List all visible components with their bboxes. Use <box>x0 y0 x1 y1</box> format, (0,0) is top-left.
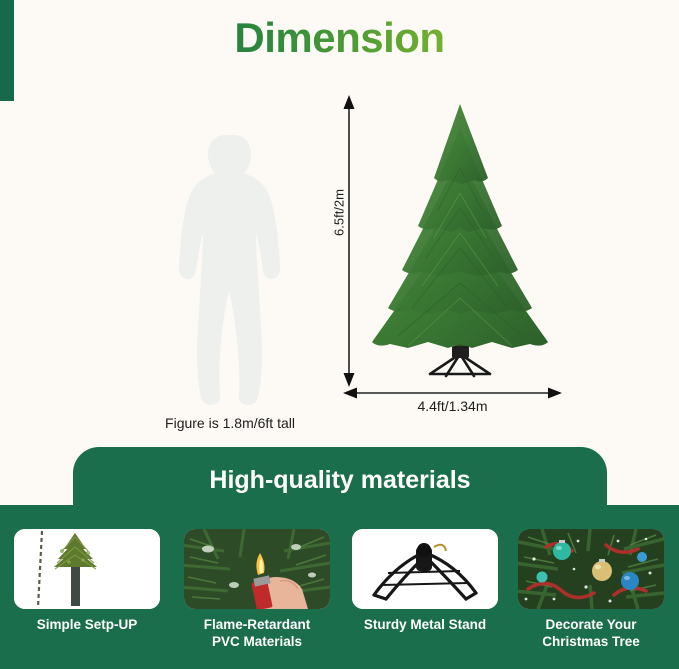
width-dimension-label: 4.4ft/1.34m <box>345 398 560 414</box>
feature-label: Simple Setp-UP <box>14 617 160 634</box>
feature-label-line2: Christmas Tree <box>542 634 640 649</box>
christmas-tree-image <box>352 98 568 380</box>
height-dimension-label: 6.5ft/2m <box>332 173 347 253</box>
feature-label-line2: PVC Materials <box>212 634 302 649</box>
feature-label: Sturdy Metal Stand <box>352 617 498 634</box>
decorated-tree-ornaments-icon <box>518 529 664 609</box>
feature-item-flame-retardant[interactable]: Flame-Retardant PVC Materials <box>184 529 334 669</box>
feature-label: Flame-Retardant PVC Materials <box>184 617 330 651</box>
metal-tree-stand-icon <box>352 529 498 609</box>
feature-label-line1: Decorate Your <box>545 617 636 632</box>
dimension-section: Dimension Figure is 1.8m/6ft tall <box>0 0 679 505</box>
feature-label-line1: Flame-Retardant <box>204 617 311 632</box>
feature-label: Decorate Your Christmas Tree <box>518 617 664 651</box>
tree-pole-section-icon <box>14 529 160 609</box>
human-silhouette-icon <box>163 133 293 405</box>
page-title: Dimension <box>0 14 679 62</box>
figure-caption: Figure is 1.8m/6ft tall <box>100 415 360 431</box>
feature-item-metal-stand[interactable]: Sturdy Metal Stand <box>352 529 502 669</box>
features-section: Simple Setp-UP <box>0 505 679 669</box>
lighter-flame-branch-icon <box>184 529 330 609</box>
materials-banner-title: High-quality materials <box>73 466 607 495</box>
feature-item-decorate-tree[interactable]: Decorate Your Christmas Tree <box>518 529 668 669</box>
feature-item-simple-setup[interactable]: Simple Setp-UP <box>14 529 164 669</box>
